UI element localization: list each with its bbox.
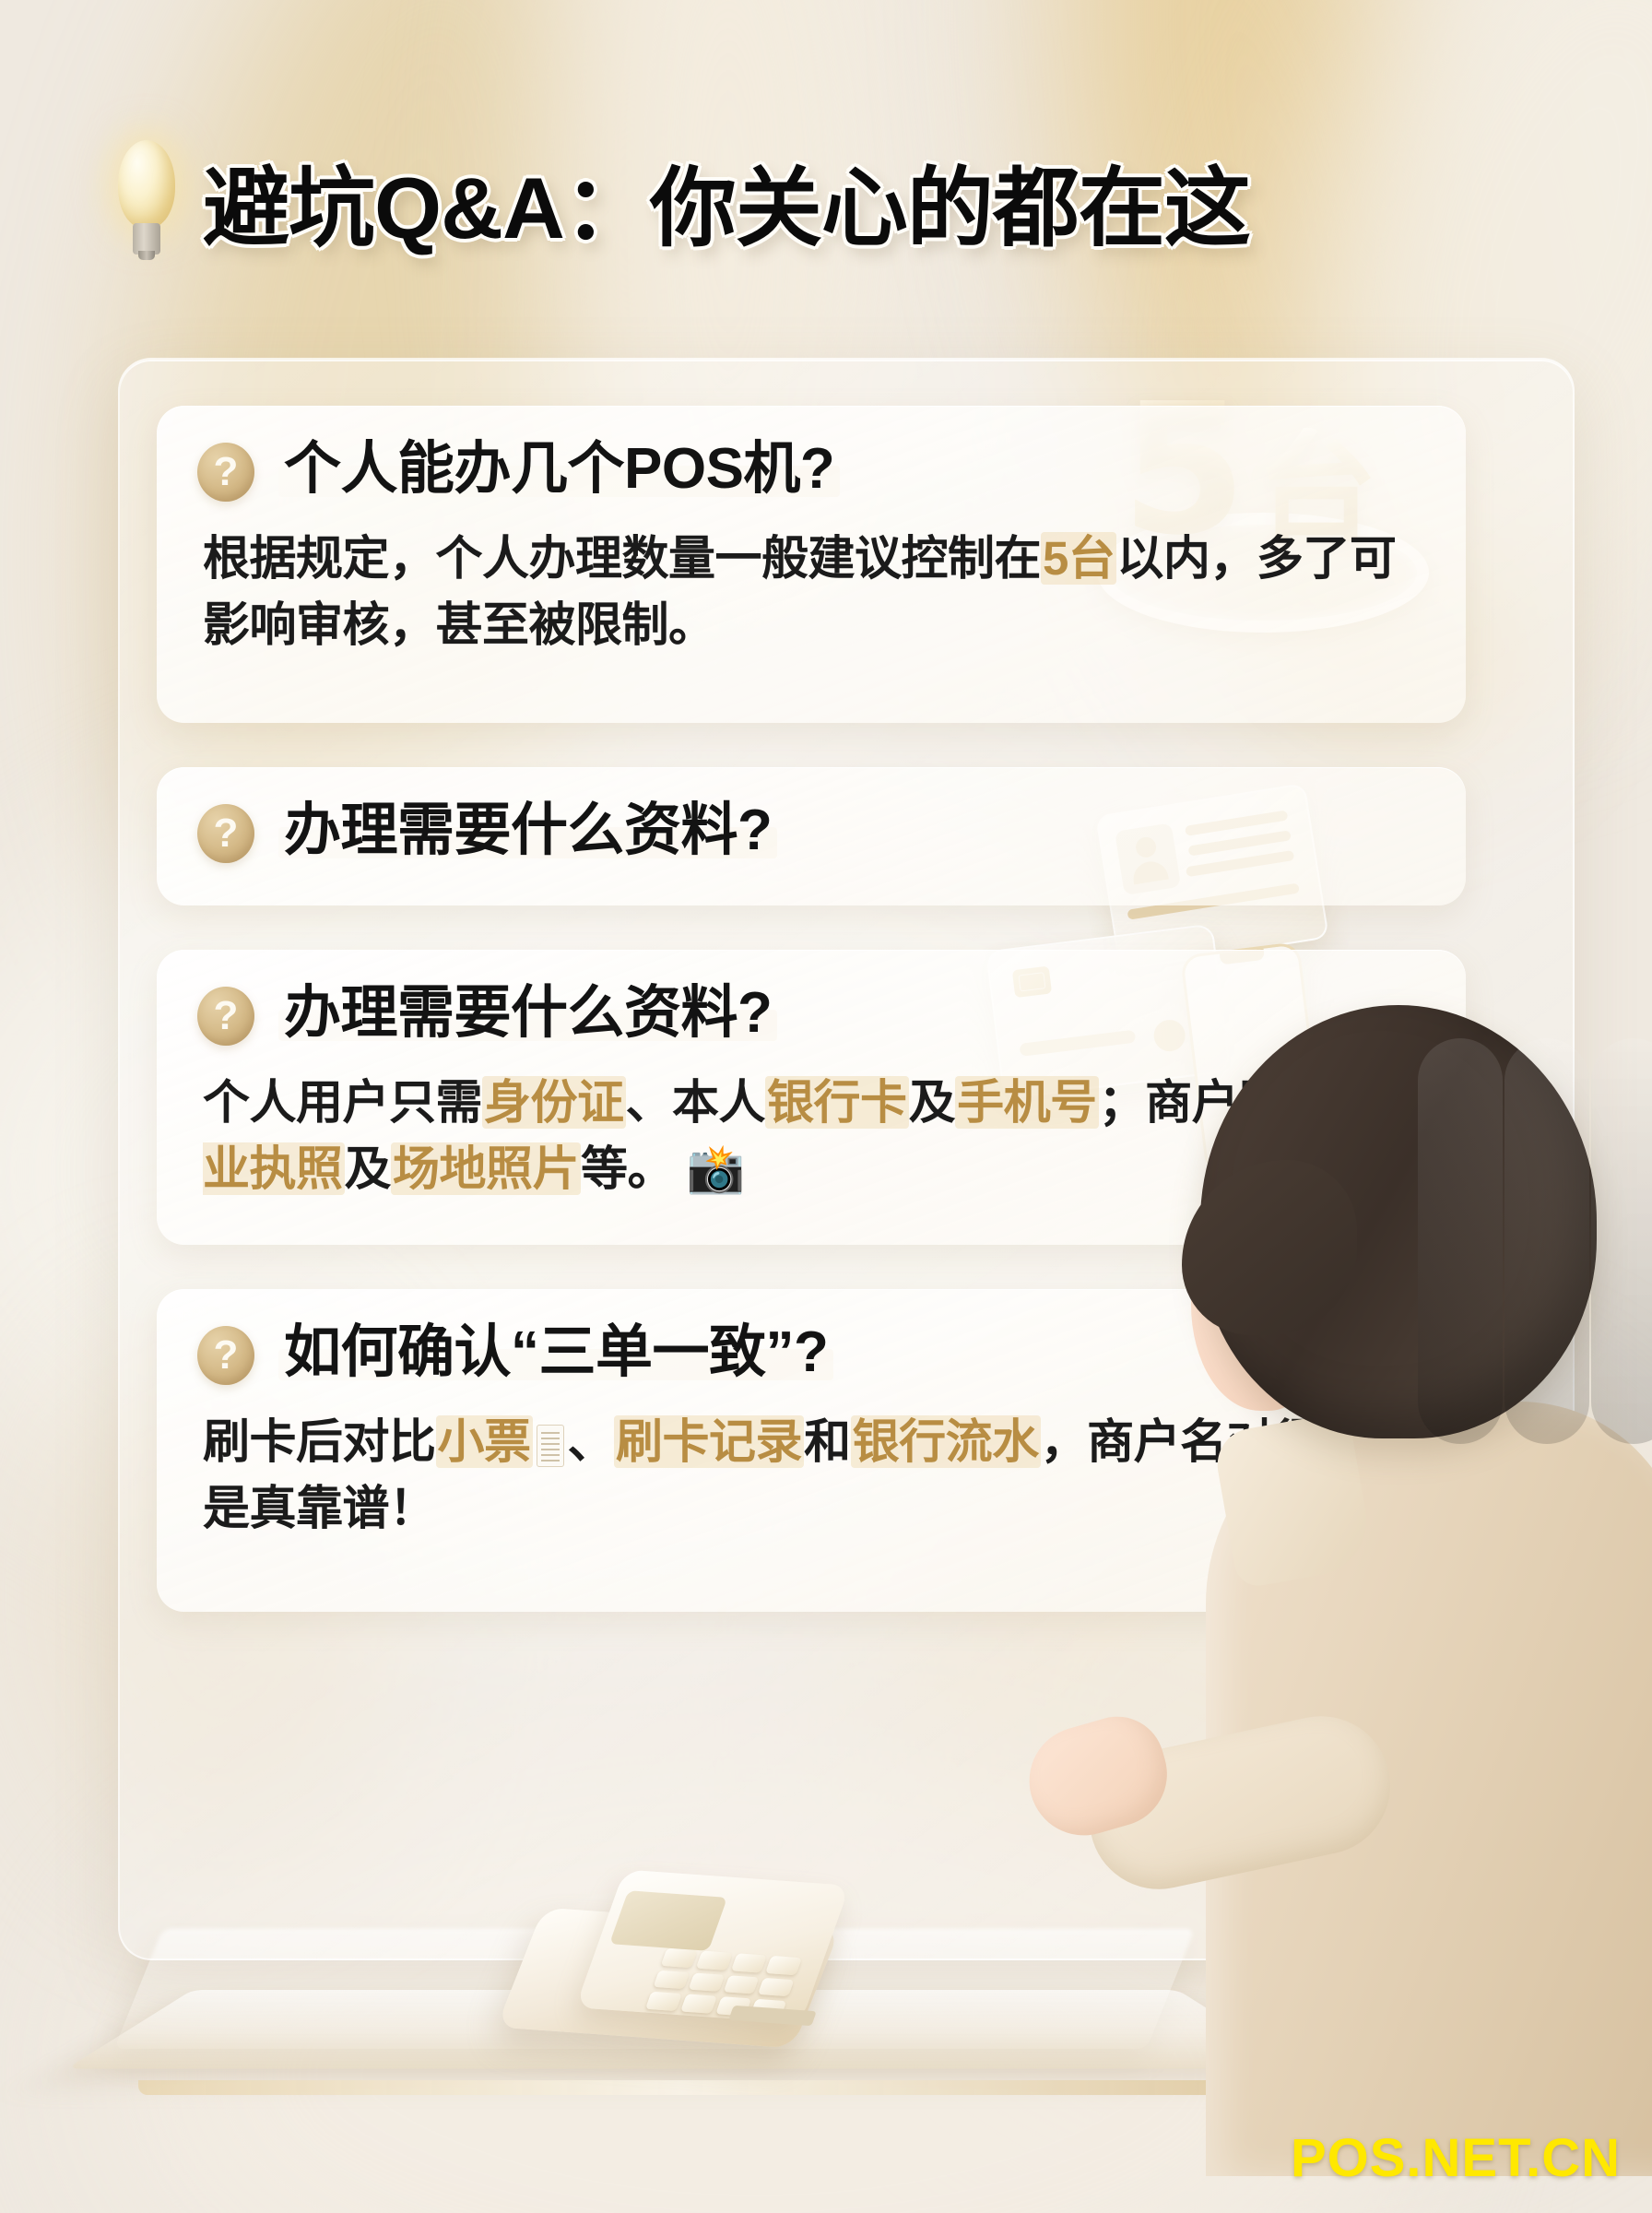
lightbulb-base	[133, 223, 160, 254]
pos-terminal-icon	[516, 1863, 903, 2075]
body-text-segment: 和	[804, 1415, 851, 1468]
qa-card-header: ? 个人能办几个POS机?	[197, 437, 1425, 502]
question-badge-icon: ?	[197, 443, 254, 502]
page-header: 避坑Q&A：你关心的都在这	[111, 138, 1250, 264]
pos-screen	[609, 1890, 727, 1951]
highlighted-term: 刷卡记录	[614, 1415, 804, 1468]
qa-card-title-text: 办理需要什么资料?	[284, 981, 772, 1045]
hair-strand	[1591, 1038, 1652, 1444]
hair-strand	[1504, 1038, 1589, 1444]
body-text-segment: 等。 📸	[581, 1142, 745, 1195]
receipt-icon	[537, 1425, 564, 1467]
qa-card-body: 根据规定，个人办理数量一般建议控制在5台以内，多了可影响审核，甚至被限制。	[203, 526, 1425, 659]
qa-card-title-text: 办理需要什么资料?	[284, 799, 772, 862]
body-text-segment: 、本人	[626, 1076, 766, 1129]
qa-card-title-text: 如何确认“三单一致”?	[284, 1320, 828, 1384]
site-watermark: POS.NET.CN	[1291, 2127, 1621, 2189]
body-text-segment: 及	[909, 1076, 956, 1129]
highlighted-term: 小票	[436, 1415, 533, 1468]
character-illustration	[1044, 1005, 1652, 2167]
question-badge-icon: ?	[197, 804, 254, 863]
body-text-segment: 及	[345, 1142, 392, 1195]
qa-card-title: 如何确认“三单一致”?	[278, 1320, 833, 1384]
page-title: 避坑Q&A：你关心的都在这	[203, 138, 1250, 264]
hair-strand	[1418, 1038, 1503, 1444]
body-text-segment: 刷卡后对比	[203, 1415, 436, 1468]
qa-card-title-text: 个人能办几个POS机?	[284, 437, 834, 501]
lightbulb-glass	[118, 140, 175, 229]
qa-card[interactable]: ? 个人能办几个POS机? 根据规定，个人办理数量一般建议控制在5台以内，多了可…	[157, 406, 1466, 723]
highlighted-term: 身份证	[482, 1076, 626, 1129]
highlighted-term: 银行流水	[851, 1415, 1041, 1468]
qa-card-title: 办理需要什么资料?	[278, 981, 777, 1045]
lightbulb-icon	[111, 140, 183, 262]
highlighted-term: 银行卡	[765, 1076, 909, 1129]
body-text-segment: 根据规定，个人办理数量一般建议控制在	[203, 532, 1041, 585]
qa-card-title: 个人能办几个POS机?	[278, 437, 840, 501]
question-badge-icon: ?	[197, 987, 254, 1046]
qa-card-header: ? 办理需要什么资料?	[197, 799, 1425, 863]
highlighted-term: 5台	[1041, 532, 1116, 585]
body-text-segment: 、	[533, 1415, 615, 1468]
body-text-segment: 个人用户只需	[203, 1076, 482, 1129]
highlighted-term: 场地照片	[391, 1142, 581, 1195]
qa-card-title: 办理需要什么资料?	[278, 799, 777, 862]
question-badge-icon: ?	[197, 1326, 254, 1385]
qa-card[interactable]: ? 办理需要什么资料?	[157, 767, 1466, 905]
